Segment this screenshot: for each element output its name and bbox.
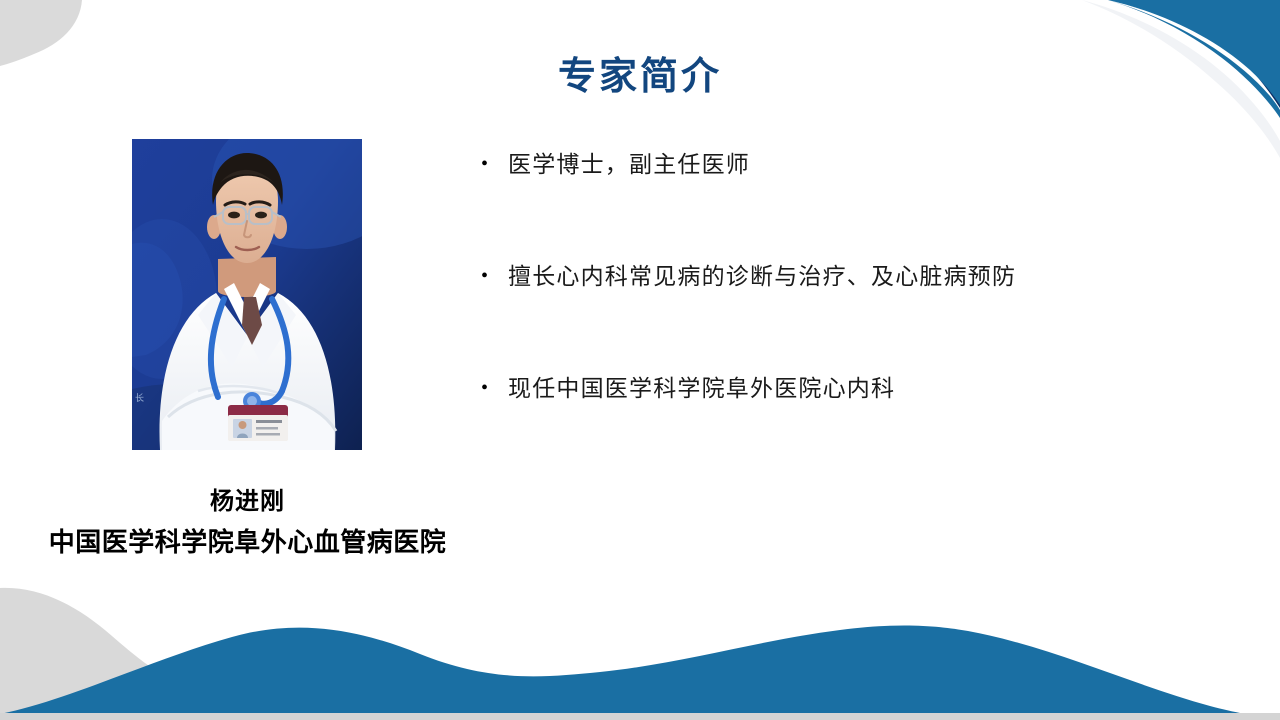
doctor-organization: 中国医学科学院阜外心血管病医院: [0, 524, 495, 562]
bottom-gray-strip: [0, 713, 1280, 720]
doctor-name: 杨进刚: [0, 484, 495, 518]
expert-bio-list: • 医学博士，副主任医师 • 擅长心内科常见病的诊断与治疗、及心脏病预防 • 现…: [470, 148, 1260, 484]
bottom-blue-wave: [0, 625, 1280, 720]
list-item: • 医学博士，副主任医师: [470, 148, 1260, 260]
doctor-photo: 长: [132, 139, 362, 450]
list-item-text: 现任中国医学科学院阜外医院心内科: [508, 372, 895, 406]
list-item: • 擅长心内科常见病的诊断与治疗、及心脏病预防: [470, 260, 1260, 372]
bullet-dot-icon: •: [470, 260, 508, 292]
doctor-portrait-illustration: 长: [132, 139, 362, 450]
list-item-text: 医学博士，副主任医师: [508, 148, 750, 182]
bottom-gray-wave: [0, 588, 228, 720]
list-item-text: 擅长心内科常见病的诊断与治疗、及心脏病预防: [508, 260, 1016, 294]
bullet-dot-icon: •: [470, 148, 508, 180]
photo-caption: 杨进刚 中国医学科学院阜外心血管病医院: [0, 484, 495, 562]
svg-text:长: 长: [135, 392, 144, 404]
list-item: • 现任中国医学科学院阜外医院心内科: [470, 372, 1260, 484]
slide-canvas: 专家简介: [0, 0, 1280, 720]
page-title: 专家简介: [0, 45, 1280, 100]
bullet-dot-icon: •: [470, 372, 508, 404]
